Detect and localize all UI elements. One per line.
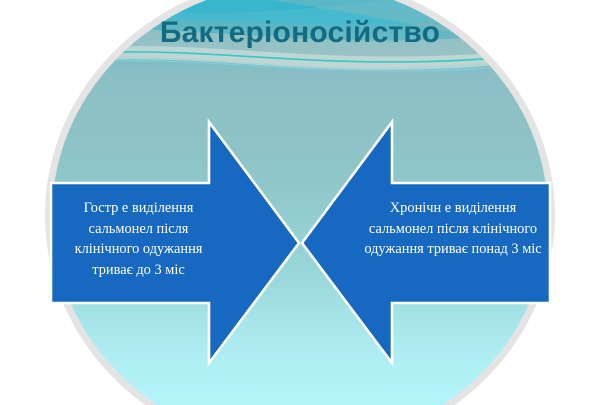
slide-canvas: Бактеріоносійство Гостр е виділення саль… [0,0,600,405]
page-title: Бактеріоносійство [0,14,600,52]
left-arrow-label: Гостр е виділення сальмонел після клініч… [56,198,221,280]
right-arrow-label: Хронічн е виділення сальмонел після клін… [362,198,544,260]
